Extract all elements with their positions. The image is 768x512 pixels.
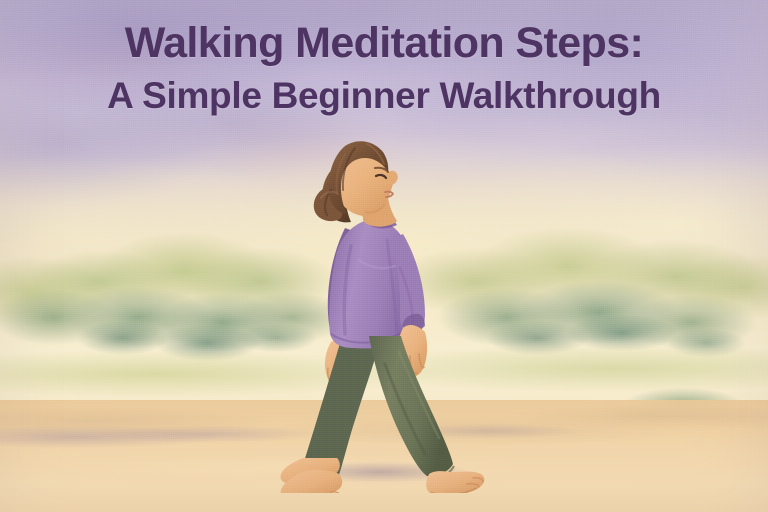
vignette bbox=[0, 0, 768, 512]
illustration-card: Walking Meditation Steps: A Simple Begin… bbox=[0, 0, 768, 512]
